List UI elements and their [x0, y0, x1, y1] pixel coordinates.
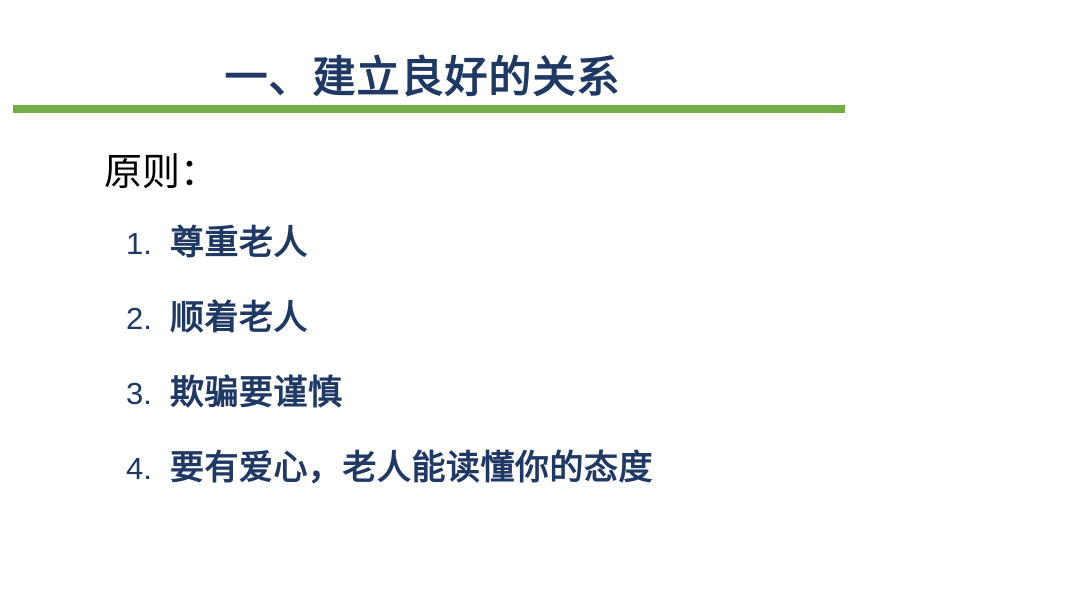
title-underline-rule — [13, 105, 845, 113]
page-title: 一、建立良好的关系 — [0, 52, 845, 104]
slide-canvas: 一、建立良好的关系 原则： 1. 尊重老人 2. 顺着老人 3. 欺骗要谨慎 4… — [0, 0, 1080, 608]
list-item-number: 4. — [126, 448, 170, 490]
principles-list: 1. 尊重老人 2. 顺着老人 3. 欺骗要谨慎 4. 要有爱心，老人能读懂你的… — [126, 222, 1026, 522]
list-item: 3. 欺骗要谨慎 — [126, 372, 1026, 447]
list-item: 4. 要有爱心，老人能读懂你的态度 — [126, 447, 1026, 522]
list-item-label: 尊重老人 — [170, 222, 308, 264]
list-item-label: 要有爱心，老人能读懂你的态度 — [170, 447, 653, 489]
list-item: 2. 顺着老人 — [126, 297, 1026, 372]
list-item-number: 1. — [126, 223, 170, 265]
list-item-label: 欺骗要谨慎 — [170, 372, 343, 414]
list-item-number: 3. — [126, 373, 170, 415]
principles-label: 原则： — [104, 151, 218, 195]
list-item-label: 顺着老人 — [170, 297, 308, 339]
list-item-number: 2. — [126, 298, 170, 340]
title-block: 一、建立良好的关系 — [0, 52, 1080, 108]
list-item: 1. 尊重老人 — [126, 222, 1026, 297]
